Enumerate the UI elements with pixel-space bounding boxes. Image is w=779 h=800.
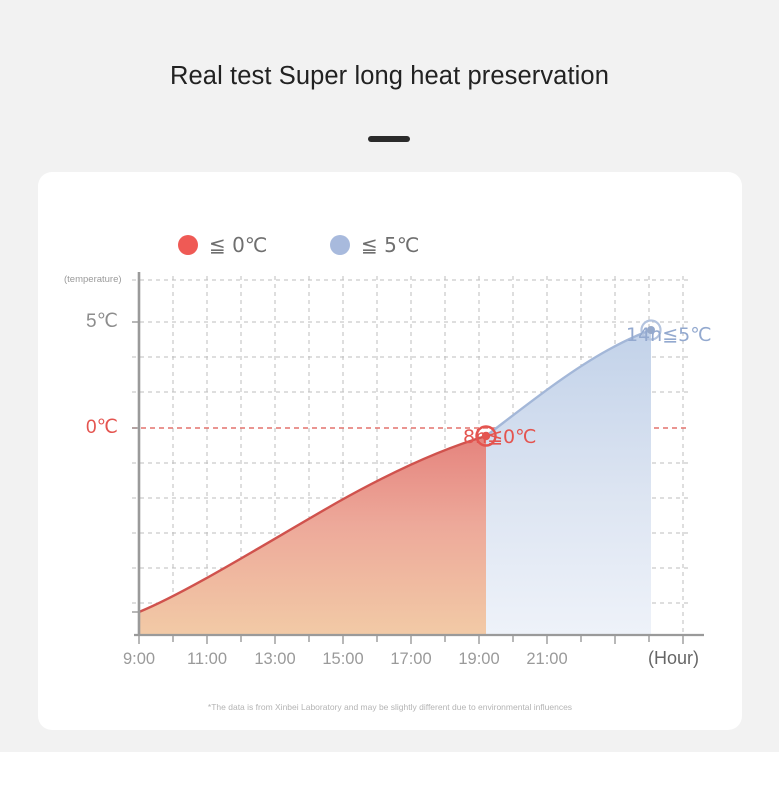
chart-plot-area: (temperature) 5℃ 0℃ 9:00 11:00 13:00 15:… bbox=[38, 172, 742, 730]
page-root: Real test Super long heat preservation ≦… bbox=[0, 0, 779, 800]
x-tick-label-3: 15:00 bbox=[309, 650, 377, 669]
x-axis-title: (Hour) bbox=[648, 648, 699, 669]
y-tick-label-5c: 5℃ bbox=[86, 310, 118, 333]
x-tick-label-6: 21:00 bbox=[513, 650, 581, 669]
y-tick-label-0c: 0℃ bbox=[86, 416, 118, 439]
x-tick-label-0: 9:00 bbox=[105, 650, 173, 669]
chart-footnote: *The data is from Xinbei Laboratory and … bbox=[38, 702, 742, 712]
x-tick-label-1: 11:00 bbox=[173, 650, 241, 669]
title-underline-rule bbox=[368, 136, 410, 142]
chart-card: ≦ 0℃ ≦ 5℃ bbox=[38, 172, 742, 730]
area-fill-below-zero bbox=[139, 436, 486, 635]
chart-svg bbox=[38, 172, 742, 730]
page-bottom-spacer bbox=[0, 752, 779, 800]
annotation-14h-label: 14h≦5℃ bbox=[626, 324, 712, 346]
page-title: Real test Super long heat preservation bbox=[0, 62, 779, 91]
x-axis-ticks bbox=[139, 635, 683, 644]
annotation-8h-label: 8h≦0℃ bbox=[463, 426, 536, 448]
y-axis-title: (temperature) bbox=[64, 274, 122, 285]
x-tick-label-5: 19:00 bbox=[445, 650, 513, 669]
x-tick-label-4: 17:00 bbox=[377, 650, 445, 669]
x-tick-label-2: 13:00 bbox=[241, 650, 309, 669]
